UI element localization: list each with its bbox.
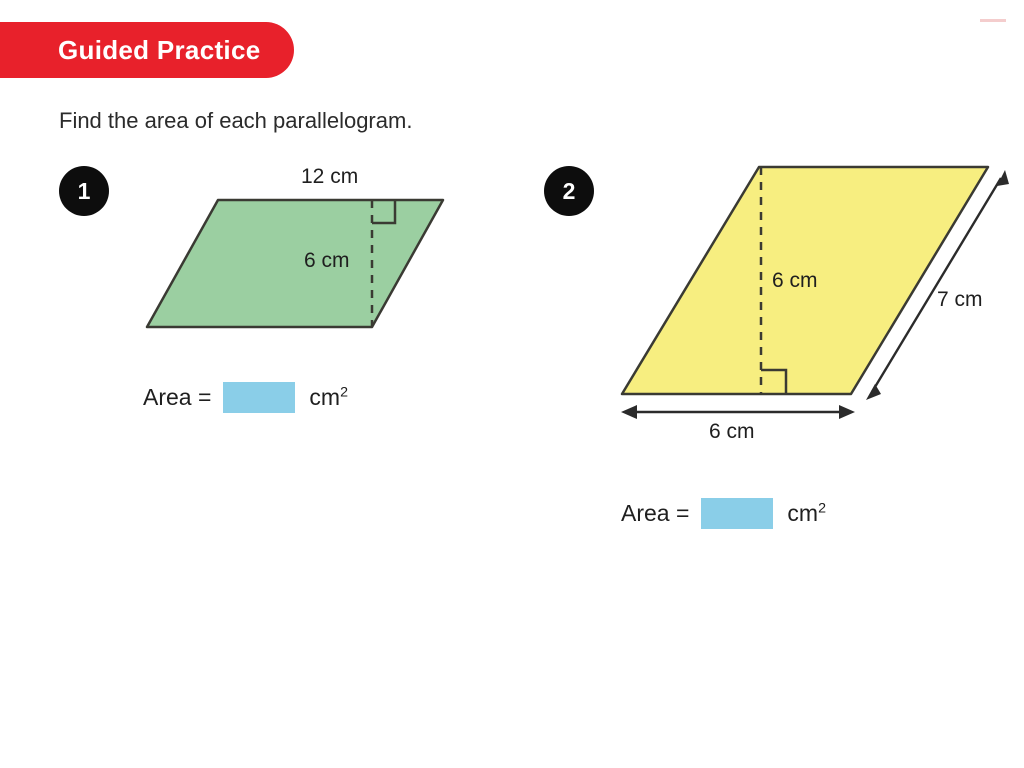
instruction-text: Find the area of each parallelogram.: [59, 108, 412, 134]
problem-2-area-row: Area = cm2: [621, 498, 826, 529]
problem-2-unit-text: cm: [787, 500, 818, 526]
problem-2-area-label: Area =: [621, 500, 689, 527]
problem-1-area-row: Area = cm2: [143, 382, 348, 413]
parallelogram-2-height-label: 6 cm: [772, 269, 818, 293]
parallelogram-1-right-angle-marker: [372, 200, 395, 223]
guided-practice-label: Guided Practice: [58, 35, 260, 66]
problem-2-number-badge: 2: [544, 166, 594, 216]
parallelogram-2-right-angle-marker: [761, 370, 786, 394]
parallelogram-2-side-dimension-arrow: [866, 170, 1009, 400]
problem-1-area-unit: cm2: [309, 384, 348, 411]
problem-2-number: 2: [563, 178, 576, 205]
parallelogram-1-shape: [147, 200, 443, 327]
problem-1-number: 1: [78, 178, 91, 205]
guided-practice-badge: Guided Practice: [0, 22, 294, 78]
problem-2-answer-box[interactable]: [701, 498, 773, 529]
parallelogram-1-figure: [147, 200, 443, 327]
parallelogram-2-base-dimension-arrow: [621, 405, 855, 419]
problem-1-area-label: Area =: [143, 384, 211, 411]
parallelogram-2-base-label: 6 cm: [709, 420, 755, 444]
problem-1-answer-box[interactable]: [223, 382, 295, 413]
corner-dash-mark: [980, 19, 1006, 22]
parallelogram-1-base-label: 12 cm: [301, 165, 358, 189]
problem-2-area-unit: cm2: [787, 500, 826, 527]
problem-1-unit-exponent: 2: [340, 384, 348, 400]
problem-1-number-badge: 1: [59, 166, 109, 216]
problem-2-unit-exponent: 2: [818, 500, 826, 516]
parallelogram-1-height-label: 6 cm: [304, 249, 350, 273]
problem-1-unit-text: cm: [309, 384, 340, 410]
parallelogram-2-side-label: 7 cm: [937, 288, 983, 312]
